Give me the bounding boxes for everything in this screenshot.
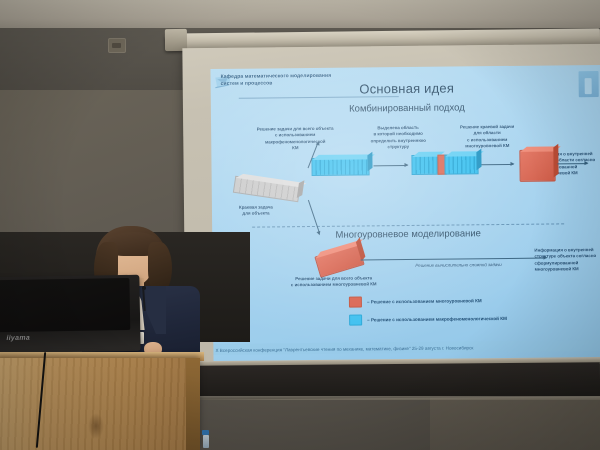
- slide-legend: – Решение с использованием многоуровнево…: [349, 295, 507, 333]
- block-cyan-left: [411, 155, 439, 175]
- monitor-screen: [0, 278, 130, 332]
- monitor-brand-label: iiyama: [6, 335, 30, 342]
- block-red-region: [519, 149, 555, 181]
- conference-room-photo: Кафедра математического моделирования си…: [0, 0, 600, 450]
- caption-multilevel-solution: Решение задачи для всего объекта с испол…: [269, 275, 399, 289]
- legend-item-multilevel: – Решение с использованием многоуровнево…: [349, 295, 507, 308]
- arrow-1: [373, 165, 407, 166]
- block-gray-object: [233, 176, 301, 202]
- caption-boundary-task: Краевая задача для объекта: [218, 204, 294, 218]
- legend-label-multilevel: – Решение с использованием многоуровнево…: [367, 298, 482, 304]
- presenter-monitor: iiyama: [0, 275, 141, 354]
- podium: [0, 358, 200, 450]
- arrow-2: [481, 164, 513, 165]
- wall-socket: [108, 38, 126, 53]
- caption-selected-region: Выделена область в которой необходимо оп…: [363, 125, 433, 151]
- slide-subtitle: Комбинированный подход: [211, 101, 600, 116]
- podium-side: [186, 358, 200, 450]
- water-bottle: [202, 430, 209, 448]
- wood-knot: [88, 413, 104, 439]
- legend-swatch-cyan: [349, 314, 362, 325]
- arrow-4: [360, 258, 546, 261]
- block-red-object: [314, 244, 364, 278]
- slide-section2-title: Многоуровневое моделирование: [212, 227, 600, 242]
- block-cyan-full: [311, 157, 369, 176]
- legend-item-macro: – Решение с использованием макрофеномено…: [349, 313, 507, 326]
- block-cyan-right: [444, 154, 478, 174]
- projected-slide: Кафедра математического моделирования си…: [210, 65, 600, 361]
- caption-macro-solution: Решение задачи для всего объекта с испол…: [243, 126, 347, 153]
- caption-complex-task: Решение вычислительно сложной задачи: [389, 262, 529, 270]
- legend-swatch-red: [349, 296, 362, 307]
- legend-label-macro: – Решение с использованием макрофеномено…: [367, 316, 507, 322]
- slide-title: Основная идея: [211, 79, 600, 98]
- caption-boundary-problem: Решение краевой задачи для области с исп…: [447, 124, 527, 150]
- counter-front: [196, 362, 600, 400]
- caption-structure-info-2: Информация о внутренней структуре объект…: [534, 247, 600, 273]
- bottle-body: [203, 435, 209, 448]
- arrow-down-to-red: [308, 200, 320, 233]
